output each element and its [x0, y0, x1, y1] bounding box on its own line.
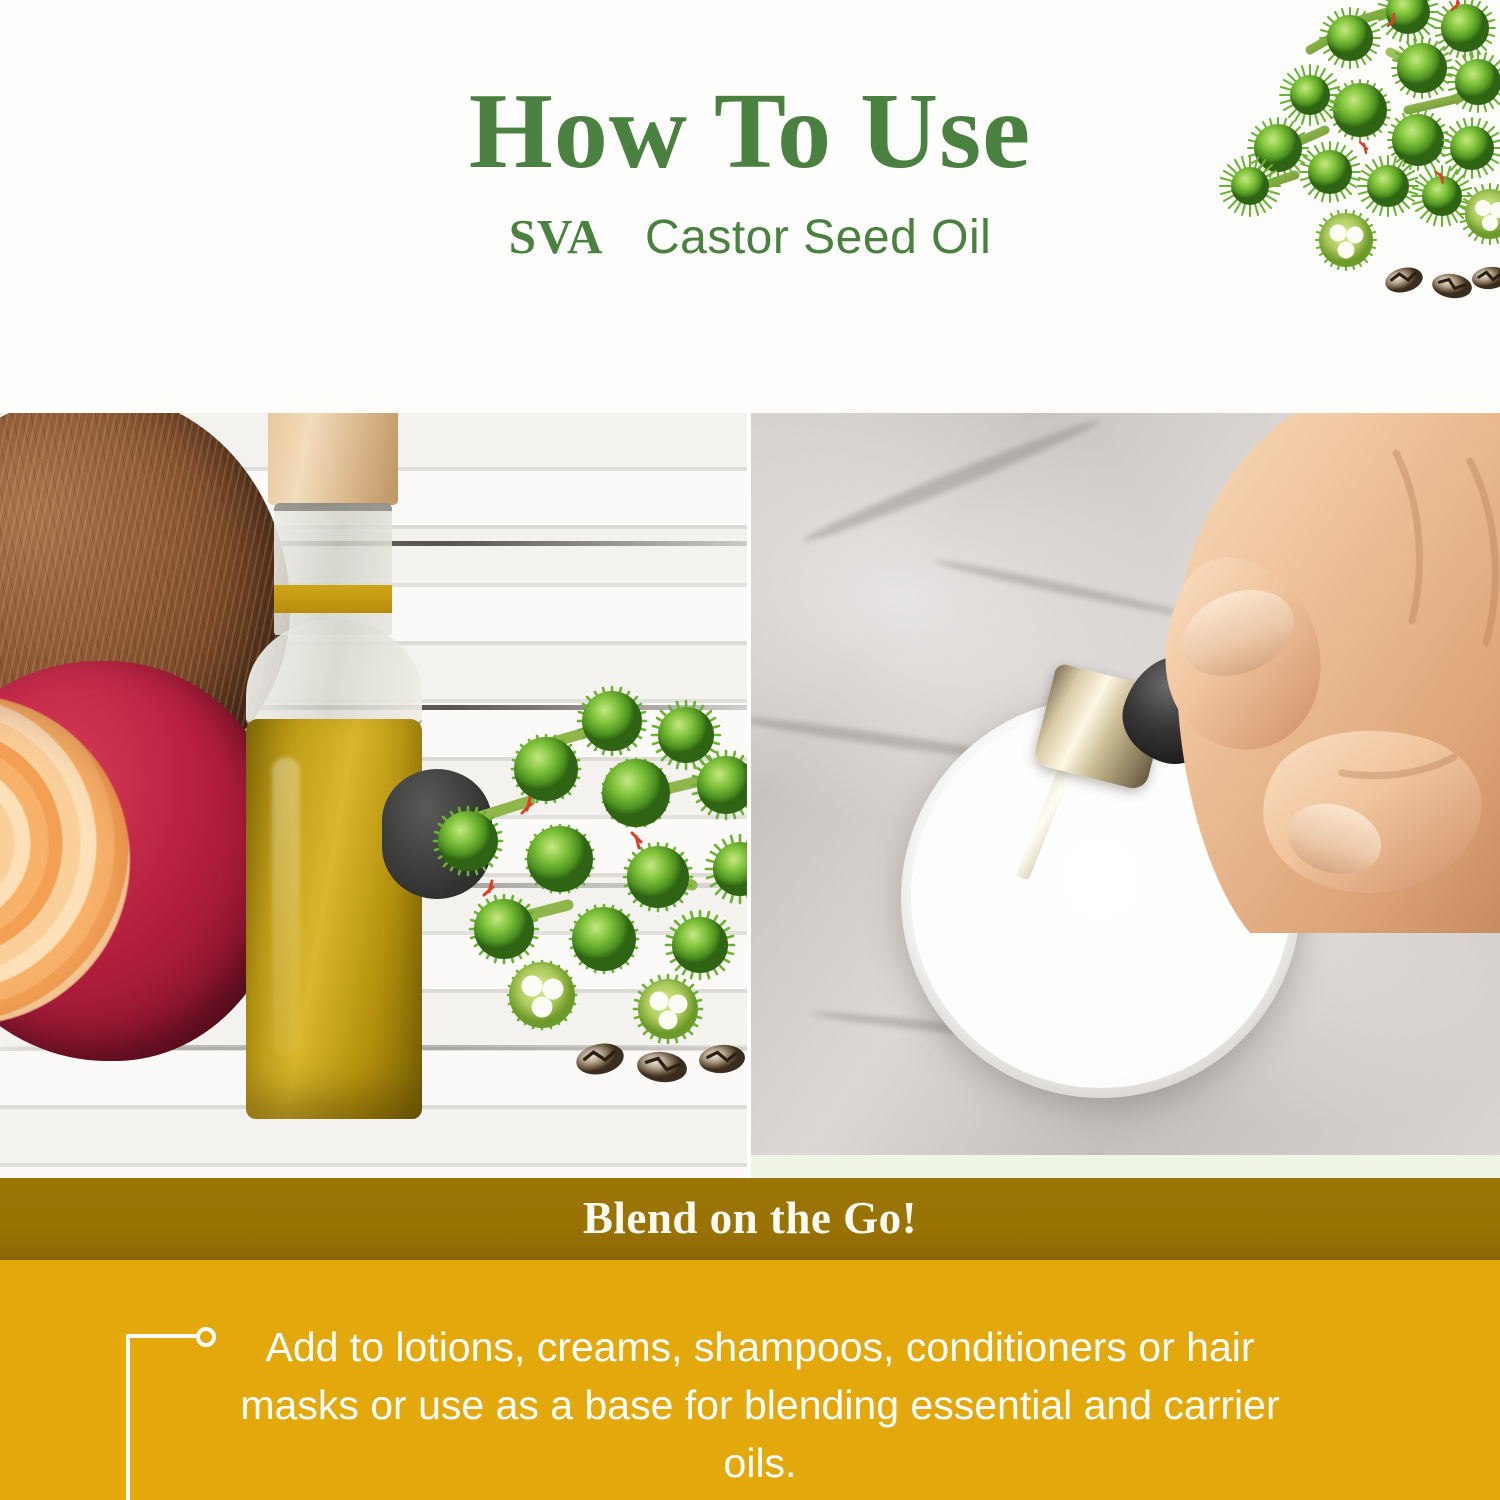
product-name: Castor Seed Oil — [645, 211, 991, 264]
circle-bullet-marker — [196, 1327, 216, 1347]
bottle-cap — [268, 413, 398, 505]
bottle-shoulder — [246, 619, 422, 729]
castor-oil-bottle-photo — [0, 413, 747, 1178]
bottle-neck — [274, 503, 392, 635]
instruction-text: Add to lotions, creams, shampoos, condit… — [225, 1318, 1295, 1493]
photo-base-strip — [751, 1155, 1500, 1180]
bullet-connector-horizontal — [126, 1334, 198, 1338]
callout-headline: Blend on the Go! — [0, 1192, 1500, 1244]
dropper-into-cream-photo — [751, 413, 1500, 1155]
orange-cream — [0, 695, 130, 1025]
title-block: How To Use SVA Castor Seed Oil — [0, 78, 1500, 262]
hand — [950, 413, 1500, 973]
page-title: How To Use — [0, 78, 1500, 186]
header-section: How To Use SVA Castor Seed Oil — [0, 0, 1500, 413]
brand-name: SVA — [509, 209, 604, 264]
castor-pods-cluster — [400, 673, 747, 1093]
bullet-connector-vertical — [126, 1334, 130, 1500]
bottle-body — [246, 719, 422, 1119]
page-subtitle: SVA Castor Seed Oil — [0, 212, 1500, 262]
photo-strip — [0, 413, 1500, 1178]
